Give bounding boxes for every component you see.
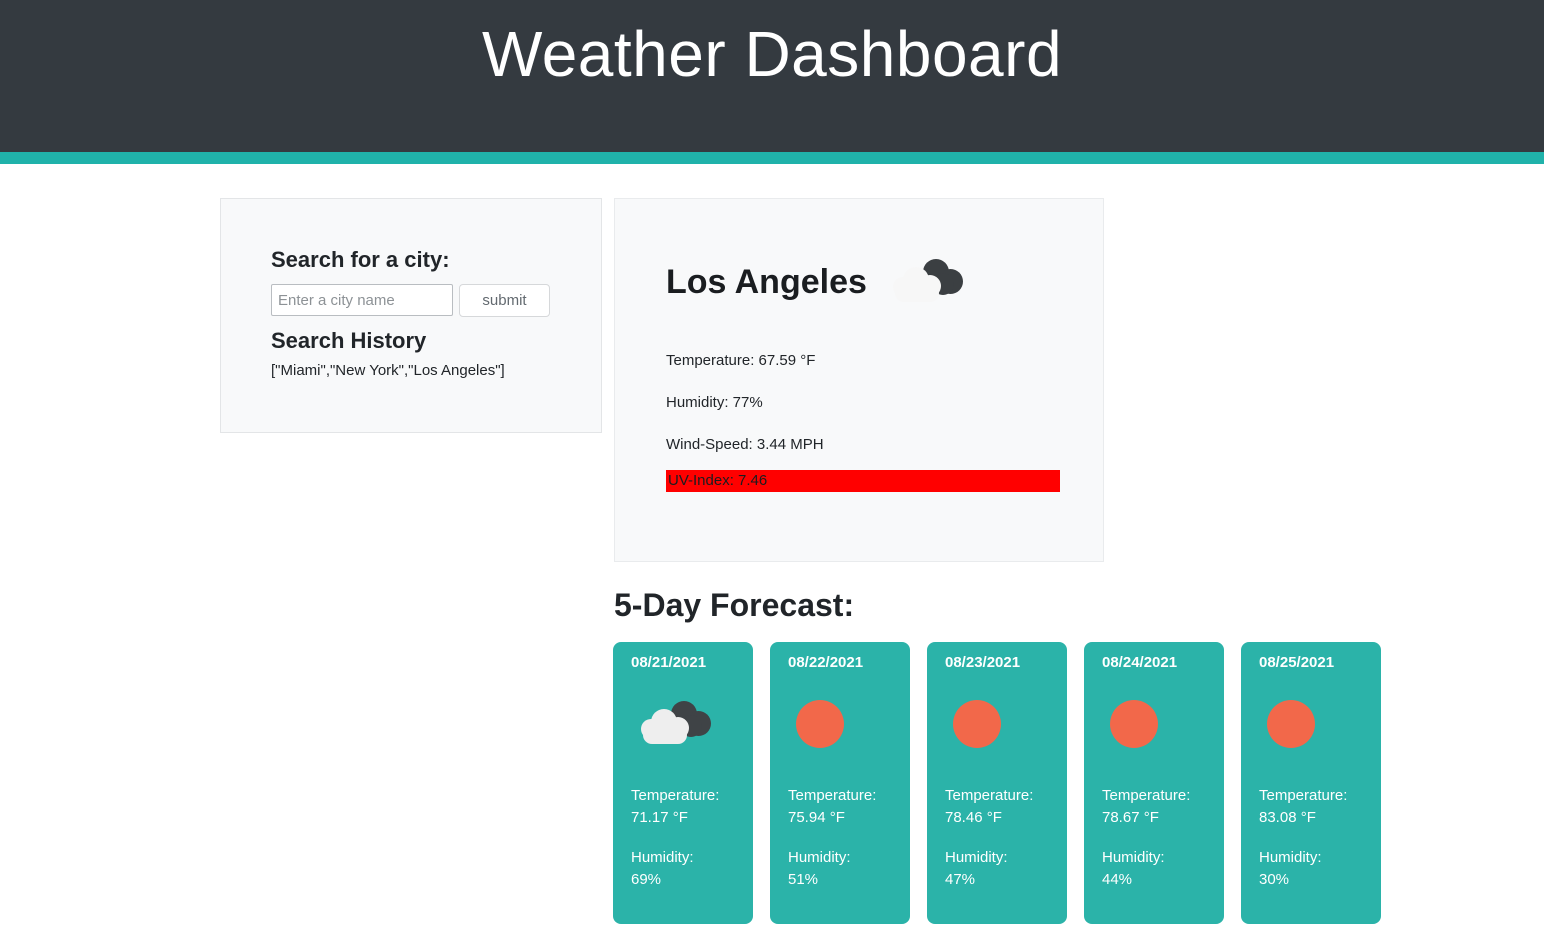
sun-icon — [796, 700, 844, 748]
forecast-humidity-value: 30% — [1259, 869, 1381, 891]
forecast-temperature-value: 75.94 °F — [788, 807, 910, 829]
forecast-humidity-value: 44% — [1102, 869, 1224, 891]
forecast-humidity-label: Humidity: — [1102, 847, 1224, 869]
broken-clouds-icon — [639, 701, 711, 747]
forecast-temperature-value: 71.17 °F — [631, 807, 753, 829]
forecast-row: 08/21/2021 Temperature: 71.17 °F Humidit… — [613, 642, 1381, 924]
search-input[interactable] — [271, 284, 453, 316]
forecast-temperature-block: Temperature: 78.67 °F — [1102, 785, 1224, 829]
current-humidity: Humidity: 77% — [666, 394, 1103, 411]
submit-button[interactable]: submit — [459, 284, 550, 317]
forecast-humidity-value: 47% — [945, 869, 1067, 891]
forecast-temperature-label: Temperature: — [1102, 785, 1224, 807]
accent-divider — [0, 152, 1544, 164]
forecast-icon-wrap — [1110, 685, 1224, 763]
forecast-date: 08/25/2021 — [1259, 654, 1381, 671]
forecast-humidity-label: Humidity: — [1259, 847, 1381, 869]
forecast-humidity-block: Humidity: 51% — [788, 847, 910, 891]
page-title: Weather Dashboard — [482, 22, 1062, 86]
forecast-card: 08/25/2021 Temperature: 83.08 °F Humidit… — [1241, 642, 1381, 924]
forecast-heading: 5-Day Forecast: — [614, 586, 854, 624]
forecast-humidity-value: 69% — [631, 869, 753, 891]
forecast-humidity-label: Humidity: — [631, 847, 753, 869]
forecast-temperature-value: 83.08 °F — [1259, 807, 1381, 829]
sun-icon — [1267, 700, 1315, 748]
forecast-humidity-block: Humidity: 47% — [945, 847, 1067, 891]
current-wind-speed: Wind-Speed: 3.44 MPH — [666, 436, 1103, 453]
current-city-row: Los Angeles — [666, 259, 1103, 305]
search-history-list[interactable]: ["Miami","New York","Los Angeles"] — [271, 362, 601, 379]
forecast-temperature-block: Temperature: 75.94 °F — [788, 785, 910, 829]
current-weather-card: Los Angeles Temperature: 67.59 °F Humidi… — [614, 198, 1104, 562]
sun-icon — [953, 700, 1001, 748]
forecast-card: 08/23/2021 Temperature: 78.46 °F Humidit… — [927, 642, 1067, 924]
sun-icon — [1110, 700, 1158, 748]
search-heading: Search for a city: — [271, 247, 601, 273]
page-body: Search for a city: submit Search History… — [0, 164, 1544, 932]
forecast-humidity-value: 51% — [788, 869, 910, 891]
current-uv-index: UV-Index: 7.46 — [666, 470, 1060, 492]
forecast-humidity-block: Humidity: 30% — [1259, 847, 1381, 891]
forecast-temperature-block: Temperature: 78.46 °F — [945, 785, 1067, 829]
forecast-temperature-value: 78.67 °F — [1102, 807, 1224, 829]
forecast-icon-wrap — [639, 685, 753, 763]
forecast-temperature-block: Temperature: 71.17 °F — [631, 785, 753, 829]
forecast-icon-wrap — [796, 685, 910, 763]
forecast-temperature-label: Temperature: — [1259, 785, 1381, 807]
forecast-temperature-label: Temperature: — [788, 785, 910, 807]
forecast-date: 08/23/2021 — [945, 654, 1067, 671]
forecast-icon-wrap — [953, 685, 1067, 763]
current-weather-inner: Los Angeles Temperature: 67.59 °F Humidi… — [615, 199, 1103, 492]
forecast-temperature-block: Temperature: 83.08 °F — [1259, 785, 1381, 829]
search-panel: Search for a city: submit Search History… — [220, 198, 602, 433]
search-panel-inner: Search for a city: submit Search History… — [221, 199, 601, 379]
forecast-date: 08/22/2021 — [788, 654, 910, 671]
forecast-date: 08/24/2021 — [1102, 654, 1224, 671]
forecast-humidity-label: Humidity: — [945, 847, 1067, 869]
cloud-base — [643, 726, 687, 744]
forecast-temperature-value: 78.46 °F — [945, 807, 1067, 829]
app-header: Weather Dashboard — [0, 0, 1544, 152]
forecast-temperature-label: Temperature: — [631, 785, 753, 807]
cloud-base — [895, 284, 939, 302]
forecast-humidity-label: Humidity: — [788, 847, 910, 869]
forecast-humidity-block: Humidity: 44% — [1102, 847, 1224, 891]
forecast-card: 08/21/2021 Temperature: 71.17 °F Humidit… — [613, 642, 753, 924]
broken-clouds-icon — [891, 259, 963, 305]
current-city-name: Los Angeles — [666, 265, 867, 299]
forecast-temperature-label: Temperature: — [945, 785, 1067, 807]
forecast-date: 08/21/2021 — [631, 654, 753, 671]
search-history-heading: Search History — [271, 328, 601, 354]
forecast-icon-wrap — [1267, 685, 1381, 763]
search-form: submit — [271, 284, 601, 317]
forecast-card: 08/22/2021 Temperature: 75.94 °F Humidit… — [770, 642, 910, 924]
current-temperature: Temperature: 67.59 °F — [666, 352, 1103, 369]
forecast-humidity-block: Humidity: 69% — [631, 847, 753, 891]
forecast-card: 08/24/2021 Temperature: 78.67 °F Humidit… — [1084, 642, 1224, 924]
